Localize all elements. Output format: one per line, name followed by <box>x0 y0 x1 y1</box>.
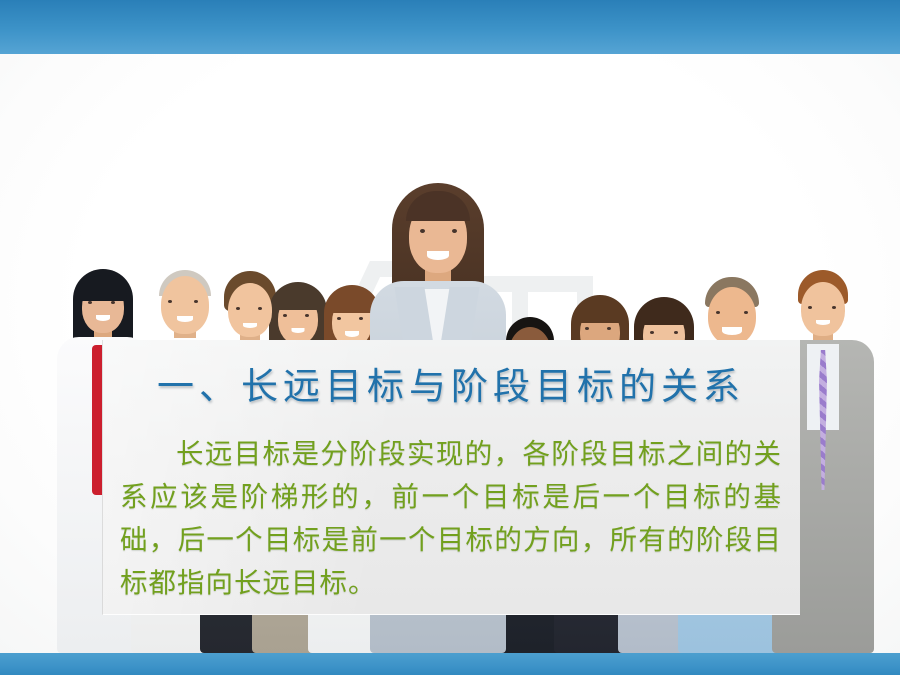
page-title: 一、长远目标与阶段目标的关系 <box>102 356 800 410</box>
card-left-edge <box>102 340 103 615</box>
presentation-slide: 一、长远目标与阶段目标的关系 长远目标是分阶段实现的，各阶段目标之间的关系应该是… <box>0 0 900 675</box>
content-card: 一、长远目标与阶段目标的关系 长远目标是分阶段实现的，各阶段目标之间的关系应该是… <box>102 340 800 615</box>
slide-body-text: 长远目标是分阶段实现的，各阶段目标之间的关系应该是阶梯形的，前一个目标是后一个目… <box>120 432 782 604</box>
top-accent-band <box>0 0 900 54</box>
bottom-accent-band <box>0 653 900 675</box>
